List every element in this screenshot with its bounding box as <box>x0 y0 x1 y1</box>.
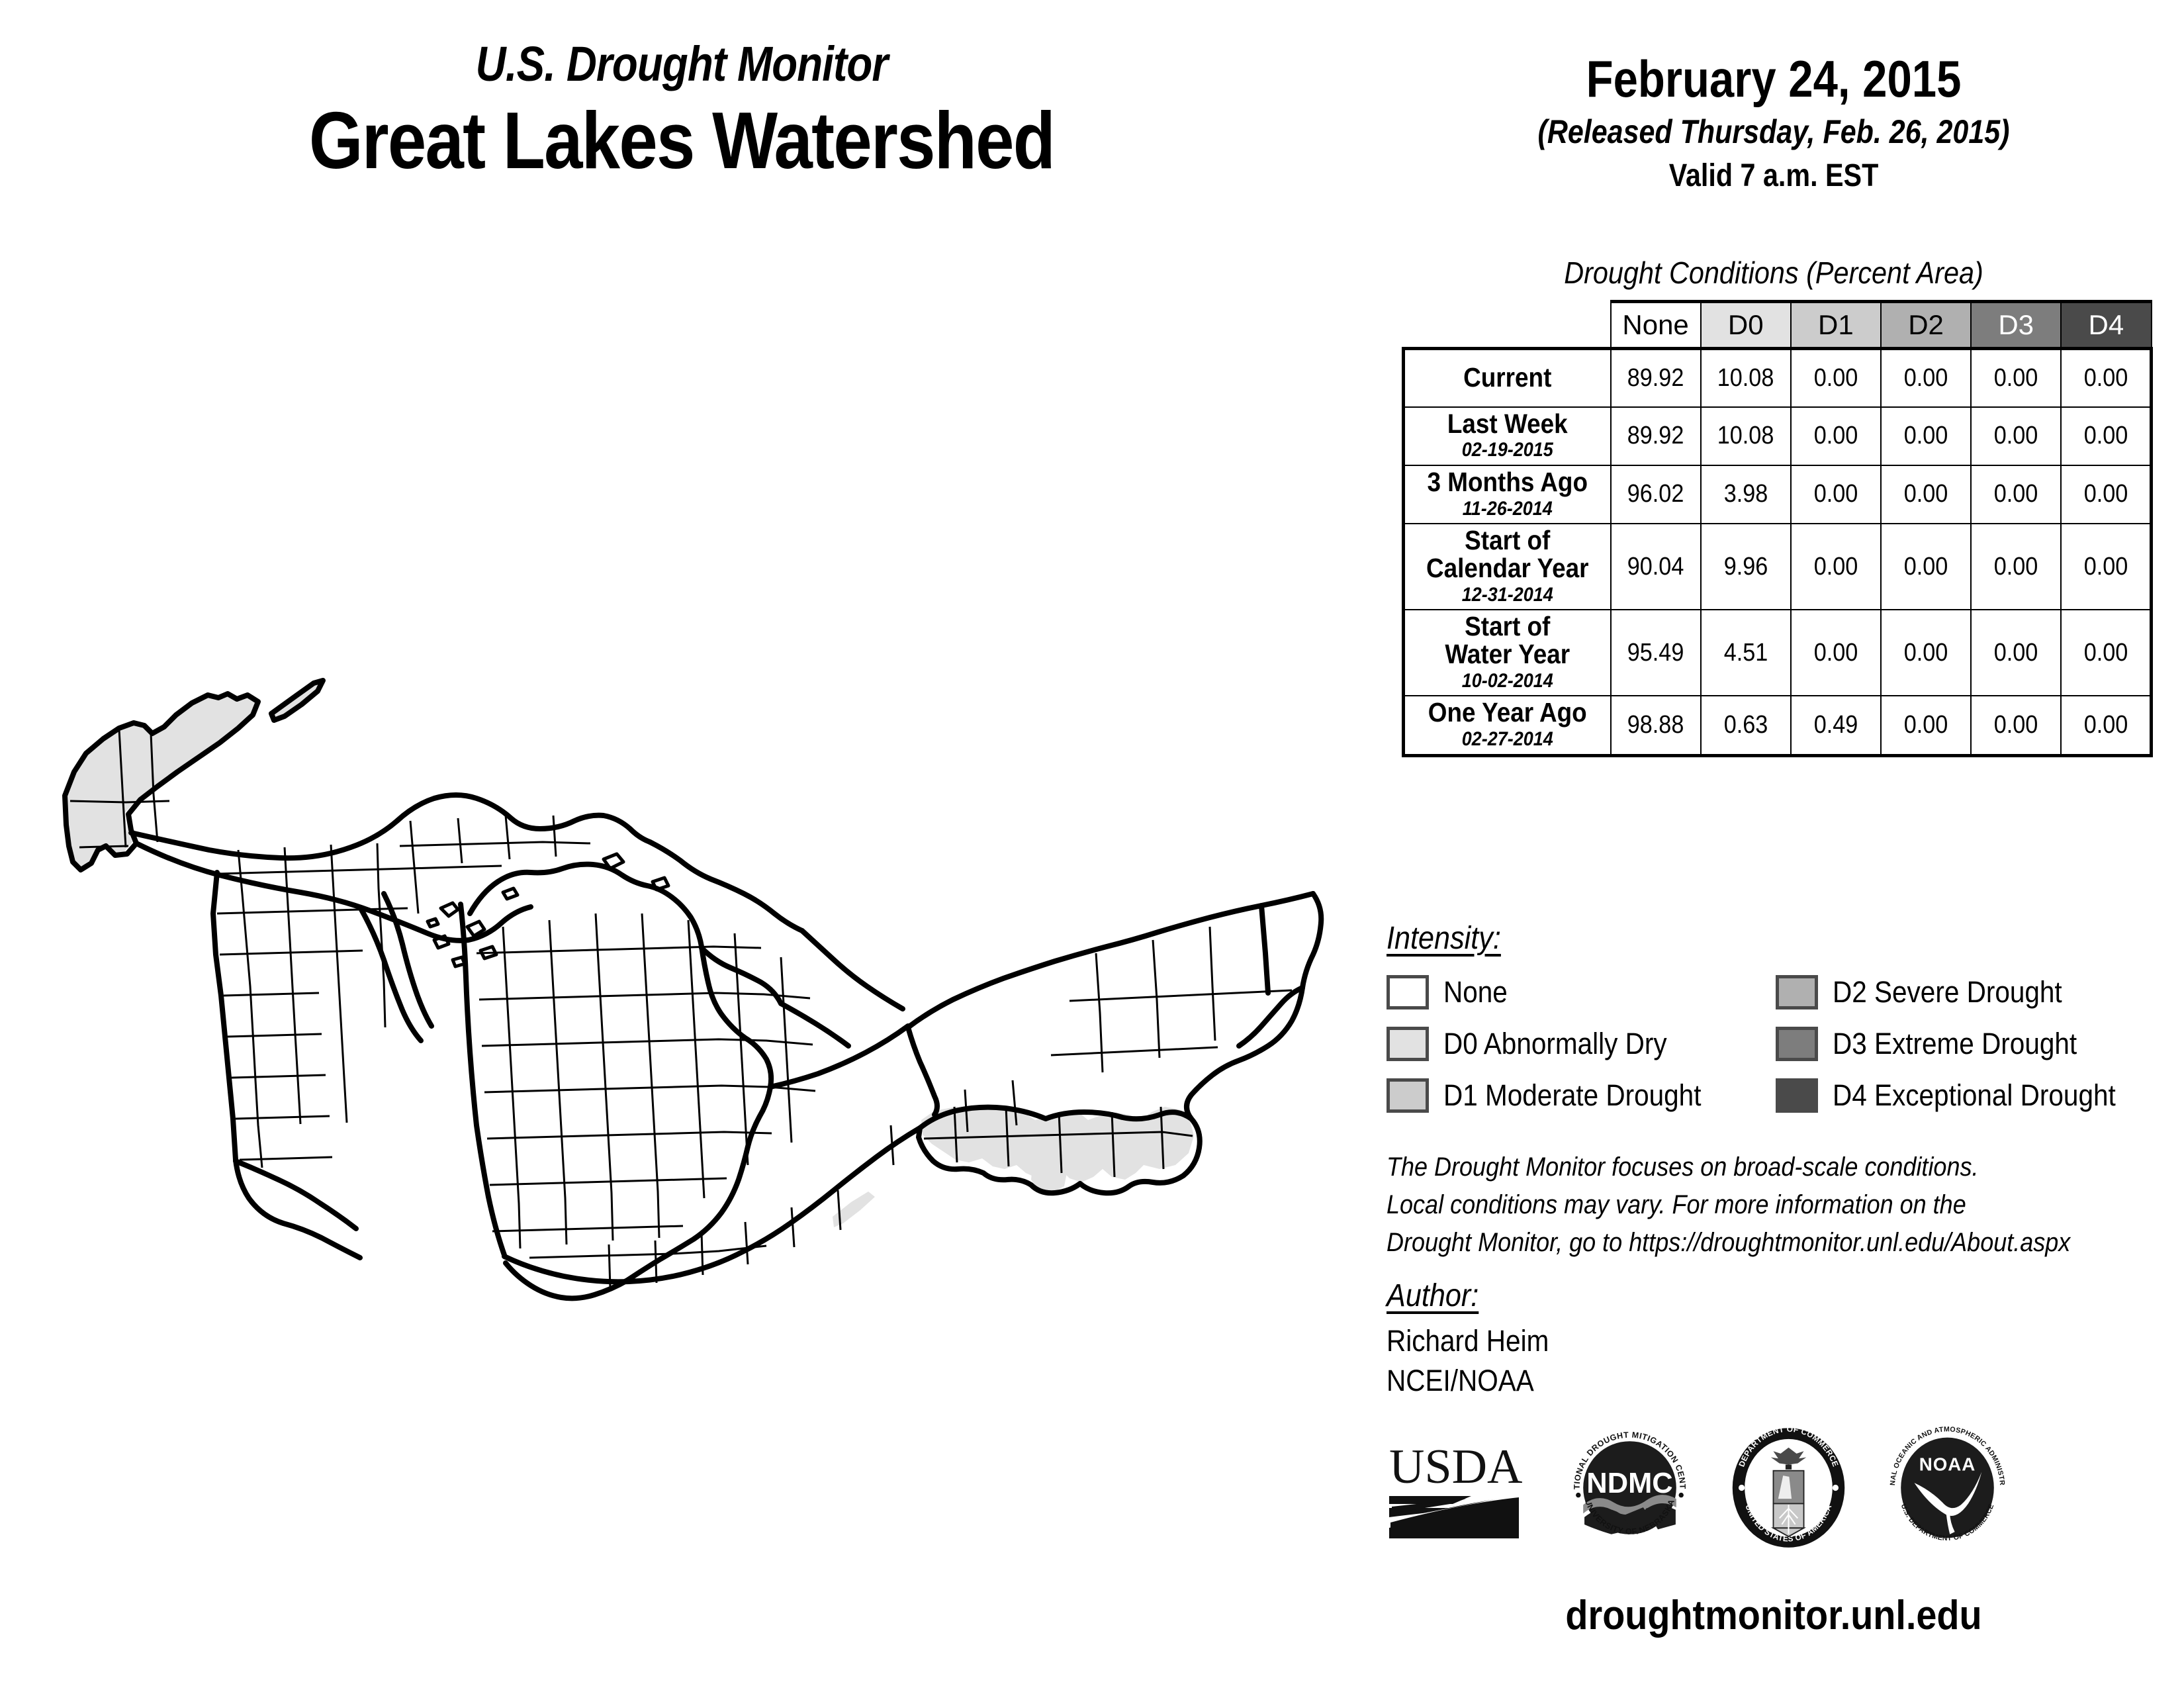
row-label-current: Current <box>1404 349 1611 407</box>
cell-wateryear-d4: 0.00 <box>2061 610 2151 696</box>
disclaimer-text: The Drought Monitor focuses on broad-sca… <box>1387 1149 2089 1261</box>
swatch-none-icon <box>1387 975 1429 1009</box>
legend-label: D2 Severe Drought <box>1833 975 2062 1009</box>
date-block: February 24, 2015 (Released Thursday, Fe… <box>1383 53 2164 192</box>
cell-wateryear-d3: 0.00 <box>1971 610 2061 696</box>
swatch-d2-icon <box>1776 975 1818 1009</box>
legend-label: D4 Exceptional Drought <box>1833 1078 2116 1113</box>
doc-logo: DEPARTMENT OF COMMERCE UNITED STATES OF … <box>1731 1427 1846 1552</box>
cell-calyear-d0: 9.96 <box>1701 524 1791 610</box>
cell-current-d3: 0.00 <box>1971 349 2061 407</box>
cell-current-d1: 0.00 <box>1791 349 1881 407</box>
cell-wateryear-d2: 0.00 <box>1881 610 1971 696</box>
row-label-last-week: Last Week 02-19-2015 <box>1404 407 1611 465</box>
legend-item-d0: D0 Abnormally Dry <box>1387 1018 1730 1070</box>
column-header-d2: D2 <box>1881 302 1971 349</box>
row-label-date: 10-02-2014 <box>1419 670 1596 693</box>
drought-conditions-table: None D0 D1 D2 D3 D4 Current 89.92 10.08 … <box>1402 300 2153 757</box>
author-heading: Author: <box>1387 1278 1479 1314</box>
cell-calyear-d2: 0.00 <box>1881 524 1971 610</box>
table-row: 3 Months Ago 11-26-2014 96.02 3.98 0.00 … <box>1404 465 2152 524</box>
disclaimer-line-3: Drought Monitor, go to https://droughtmo… <box>1387 1224 2089 1262</box>
legend-label: D1 Moderate Drought <box>1443 1078 1701 1113</box>
cell-3months-d0: 3.98 <box>1701 465 1791 524</box>
swatch-d1-icon <box>1387 1078 1429 1113</box>
cell-3months-d3: 0.00 <box>1971 465 2061 524</box>
row-label-date: 12-31-2014 <box>1419 584 1596 607</box>
cell-3months-d4: 0.00 <box>2061 465 2151 524</box>
cell-calyear-d1: 0.00 <box>1791 524 1881 610</box>
cell-wateryear-d0: 4.51 <box>1701 610 1791 696</box>
title-block: U.S. Drought Monitor Great Lakes Watersh… <box>0 40 1363 183</box>
map-svg <box>40 583 1350 1311</box>
legend-label: D3 Extreme Drought <box>1833 1027 2077 1061</box>
legend-label: D0 Abnormally Dry <box>1443 1027 1667 1061</box>
page-subtitle: U.S. Drought Monitor <box>95 40 1268 89</box>
author-name: Richard Heim <box>1387 1324 1549 1358</box>
cell-lastweek-d0: 10.08 <box>1701 407 1791 465</box>
table-row: One Year Ago 02-27-2014 98.88 0.63 0.49 … <box>1404 696 2152 755</box>
row-label-date: 02-19-2015 <box>1419 439 1596 462</box>
cell-wateryear-none: 95.49 <box>1611 610 1701 696</box>
row-label-text: 3 Months Ago <box>1419 469 1596 496</box>
cell-current-d2: 0.00 <box>1881 349 1971 407</box>
cell-current-d4: 0.00 <box>2061 349 2151 407</box>
ndmc-logo: NDMC NATIONAL DROUGHT MITIGATION CENTER … <box>1569 1427 1691 1552</box>
cell-3months-d1: 0.00 <box>1791 465 1881 524</box>
table-row: Last Week 02-19-2015 89.92 10.08 0.00 0.… <box>1404 407 2152 465</box>
cell-oneyear-d1: 0.49 <box>1791 696 1881 755</box>
svg-text:NOAA: NOAA <box>1919 1454 1976 1475</box>
column-header-d3: D3 <box>1971 302 2061 349</box>
release-date: (Released Thursday, Feb. 26, 2015) <box>1438 115 2110 148</box>
cell-current-d0: 10.08 <box>1701 349 1791 407</box>
row-label-date: 02-27-2014 <box>1419 728 1596 751</box>
table-row: Start of Water Year 10-02-2014 95.49 4.5… <box>1404 610 2152 696</box>
column-header-d0: D0 <box>1701 302 1791 349</box>
swatch-d3-icon <box>1776 1027 1818 1061</box>
cell-3months-d2: 0.00 <box>1881 465 1971 524</box>
swatch-d0-icon <box>1387 1027 1429 1061</box>
legend-item-d4: D4 Exceptional Drought <box>1776 1070 2147 1121</box>
cell-calyear-none: 90.04 <box>1611 524 1701 610</box>
legend-column-right: D2 Severe Drought D3 Extreme Drought D4 … <box>1776 966 2147 1121</box>
svg-text:USDA: USDA <box>1389 1440 1522 1494</box>
row-label-start-calendar-year: Start of Calendar Year 12-31-2014 <box>1404 524 1611 610</box>
row-label-text: Start of Calendar Year <box>1419 527 1596 583</box>
row-label-text: Current <box>1419 364 1596 392</box>
cell-calyear-d4: 0.00 <box>2061 524 2151 610</box>
table-row: Start of Calendar Year 12-31-2014 90.04 … <box>1404 524 2152 610</box>
table-corner-blank <box>1404 302 1611 349</box>
cell-current-none: 89.92 <box>1611 349 1701 407</box>
row-label-start-water-year: Start of Water Year 10-02-2014 <box>1404 610 1611 696</box>
cell-lastweek-d2: 0.00 <box>1881 407 1971 465</box>
row-label-3-months-ago: 3 Months Ago 11-26-2014 <box>1404 465 1611 524</box>
intensity-heading: Intensity: <box>1387 920 1501 957</box>
cell-calyear-d3: 0.00 <box>1971 524 2061 610</box>
legend-item-none: None <box>1387 966 1730 1018</box>
legend-item-d3: D3 Extreme Drought <box>1776 1018 2147 1070</box>
cell-lastweek-d4: 0.00 <box>2061 407 2151 465</box>
table-caption: Drought Conditions (Percent Area) <box>1422 255 2125 291</box>
valid-time: Valid 7 a.m. EST <box>1438 160 2110 192</box>
legend-column-left: None D0 Abnormally Dry D1 Moderate Droug… <box>1387 966 1730 1121</box>
swatch-d4-icon <box>1776 1078 1818 1113</box>
footer-url: droughtmonitor.unl.edu <box>1422 1592 2125 1639</box>
row-label-text: Last Week <box>1419 410 1596 438</box>
cell-oneyear-none: 98.88 <box>1611 696 1701 755</box>
cell-oneyear-d0: 0.63 <box>1701 696 1791 755</box>
d0-area-isle-royale <box>273 680 323 719</box>
valid-date: February 24, 2015 <box>1438 53 2110 105</box>
cell-oneyear-d3: 0.00 <box>1971 696 2061 755</box>
legend-label: None <box>1443 975 1508 1009</box>
cell-3months-none: 96.02 <box>1611 465 1701 524</box>
cell-lastweek-d1: 0.00 <box>1791 407 1881 465</box>
row-label-text: One Year Ago <box>1419 699 1596 727</box>
row-label-date: 11-26-2014 <box>1419 498 1596 521</box>
agency-logo-row: USDA NDMC NATIONAL DROUGHT MITIGATIO <box>1387 1427 2167 1552</box>
page-title: Great Lakes Watershed <box>95 98 1268 183</box>
cell-wateryear-d1: 0.00 <box>1791 610 1881 696</box>
row-label-text: Start of Water Year <box>1419 613 1596 669</box>
disclaimer-line-1: The Drought Monitor focuses on broad-sca… <box>1387 1149 2089 1186</box>
cell-oneyear-d2: 0.00 <box>1881 696 1971 755</box>
cell-lastweek-d3: 0.00 <box>1971 407 2061 465</box>
column-header-d4: D4 <box>2061 302 2151 349</box>
great-lakes-watershed-map <box>40 583 1350 1311</box>
row-label-one-year-ago: One Year Ago 02-27-2014 <box>1404 696 1611 755</box>
column-header-d1: D1 <box>1791 302 1881 349</box>
cell-lastweek-none: 89.92 <box>1611 407 1701 465</box>
noaa-logo: NOAA NATIONAL OCEANIC AND ATMOSPHERIC AD… <box>1886 1427 2009 1552</box>
cell-oneyear-d4: 0.00 <box>2061 696 2151 755</box>
table-row: Current 89.92 10.08 0.00 0.00 0.00 0.00 <box>1404 349 2152 407</box>
author-organization: NCEI/NOAA <box>1387 1364 1534 1398</box>
usda-logo: USDA <box>1387 1435 1529 1544</box>
table-body: Current 89.92 10.08 0.00 0.00 0.00 0.00 … <box>1404 349 2152 756</box>
svg-text:NDMC: NDMC <box>1586 1468 1672 1499</box>
table-header-row: None D0 D1 D2 D3 D4 <box>1404 302 2152 349</box>
legend-item-d1: D1 Moderate Drought <box>1387 1070 1730 1121</box>
legend-item-d2: D2 Severe Drought <box>1776 966 2147 1018</box>
disclaimer-line-2: Local conditions may vary. For more info… <box>1387 1186 2089 1224</box>
column-header-none: None <box>1611 302 1701 349</box>
